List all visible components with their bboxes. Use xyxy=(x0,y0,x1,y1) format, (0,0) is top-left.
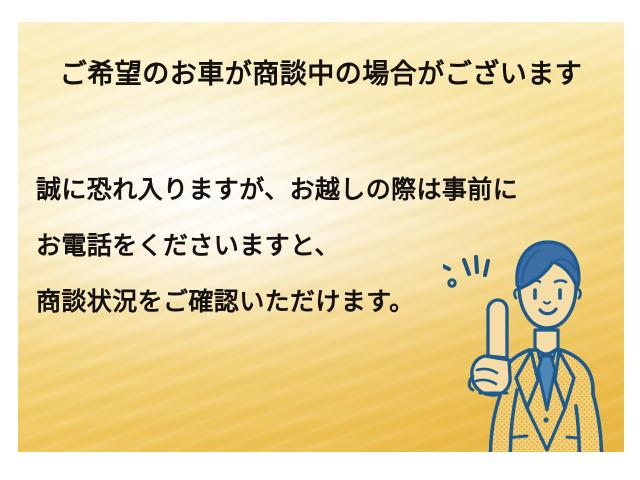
headline-text: ご希望のお車が商談中の場合がございます xyxy=(18,60,624,90)
businessman-pointing-illustration xyxy=(443,238,624,452)
body-line-1: 誠に恐れ入りますが、お越しの際は事前に xyxy=(36,162,616,218)
notice-card: ご希望のお車が商談中の場合がございます 誠に恐れ入りますが、お越しの際は事前に … xyxy=(18,22,624,452)
screenshot-stage: ご希望のお車が商談中の場合がございます 誠に恐れ入りますが、お越しの際は事前に … xyxy=(0,0,640,480)
emphasis-marks xyxy=(464,257,488,275)
